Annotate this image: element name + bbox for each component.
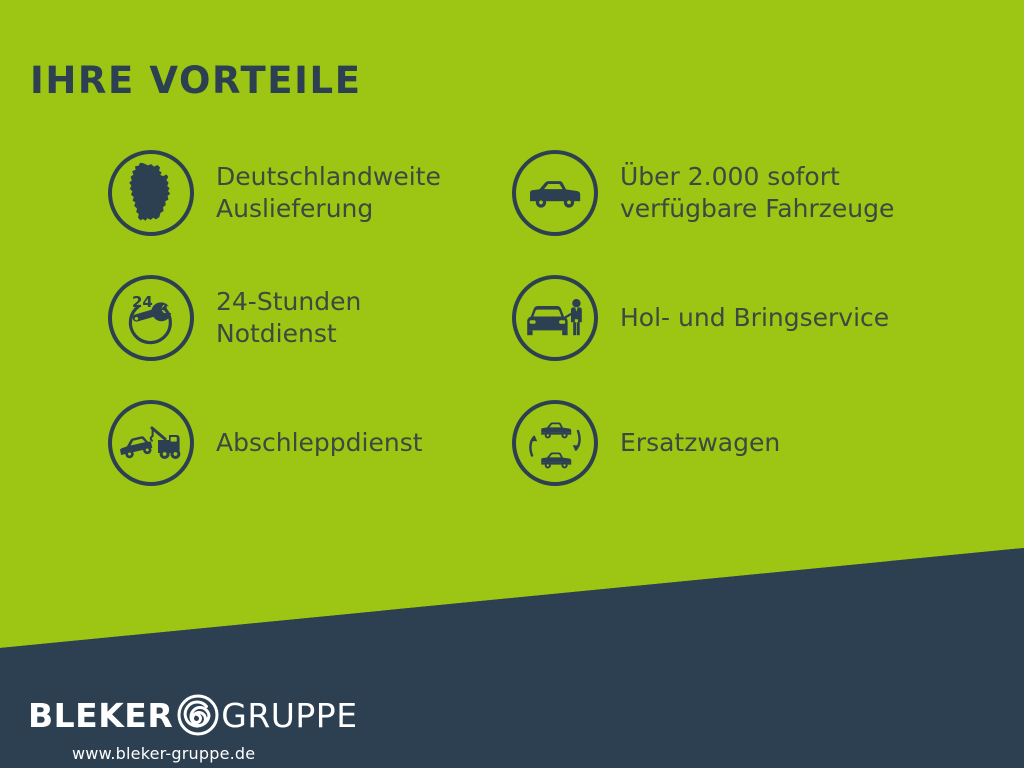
logo-website-url: www.bleker-gruppe.de: [72, 744, 358, 763]
feature-item-abschleppdienst: Abschleppdienst: [108, 400, 423, 486]
spiral-logo-icon: [176, 693, 220, 737]
feature-label: Hol- und Bringservice: [620, 302, 889, 334]
feature-label: Deutschlandweite Auslieferung: [216, 161, 441, 225]
features-list: Deutschlandweite Auslieferung Über 2.000…: [0, 150, 1024, 520]
slide-root: IHRE VORTEILE Deutschlandweite Ausliefer…: [0, 0, 1024, 768]
company-logo: BLEKER GRUPPE www.bleker-gruppe.de: [28, 693, 358, 763]
feature-item-hol-und-bringservice: Hol- und Bringservice: [512, 275, 889, 361]
feature-item-deutschlandweite-auslieferung: Deutschlandweite Auslieferung: [108, 150, 441, 236]
svg-text:24: 24: [132, 293, 153, 311]
feature-label: Ersatzwagen: [620, 427, 780, 459]
germany-map-icon: [108, 150, 194, 236]
page-title: IHRE VORTEILE: [30, 62, 362, 99]
feature-label: 24-Stunden Notdienst: [216, 286, 361, 350]
feature-item-24-stunden-notdienst: 24 24-Stunden Notdienst: [108, 275, 361, 361]
logo-gruppe-text: GRUPPE: [221, 699, 357, 732]
tow-truck-icon: [108, 400, 194, 486]
feature-label: Abschleppdienst: [216, 427, 423, 459]
car-with-driver-icon: [512, 275, 598, 361]
feature-label: Über 2.000 sofort verfügbare Fahrzeuge: [620, 161, 894, 225]
two-cars-exchange-icon: [512, 400, 598, 486]
feature-item-verfuegbare-fahrzeuge: Über 2.000 sofort verfügbare Fahrzeuge: [512, 150, 894, 236]
wrench-24h-icon: 24: [108, 275, 194, 361]
logo-wordmark: BLEKER GRUPPE: [28, 693, 358, 737]
logo-bleker-text: BLEKER: [28, 699, 173, 732]
feature-item-ersatzwagen: Ersatzwagen: [512, 400, 780, 486]
car-side-icon: [512, 150, 598, 236]
